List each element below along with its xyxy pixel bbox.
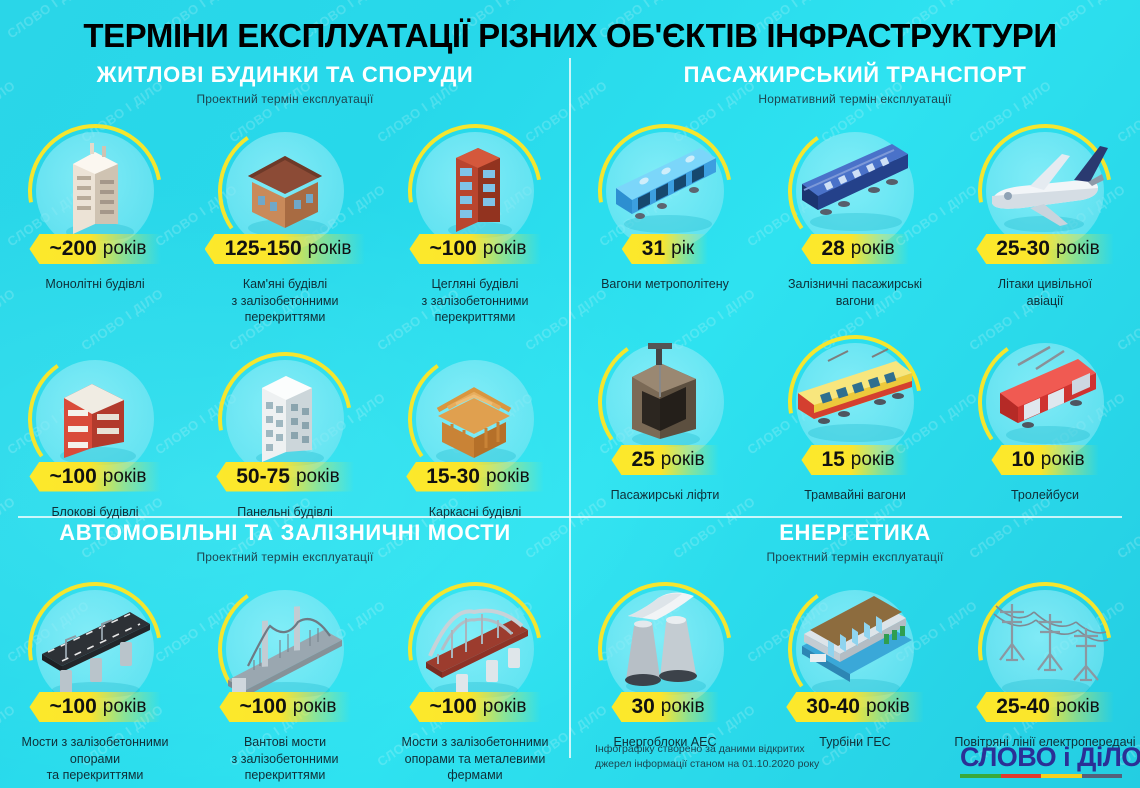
duration-badge: 125-150років <box>205 234 366 264</box>
card-row: 30роківЕнергоблоки АЕС30-40роківТурбіни … <box>570 582 1140 751</box>
card-caption: Пасажирські ліфти <box>611 487 720 504</box>
card-caption: Блокові будівлі <box>51 504 138 521</box>
card-caption: Вагони метрополітену <box>601 276 729 293</box>
info-card: 25роківПасажирські ліфти <box>570 335 760 504</box>
info-card: 30роківЕнергоблоки АЕС <box>570 582 760 751</box>
card-caption: Тролейбуси <box>1011 487 1079 504</box>
duration-unit: років <box>1056 696 1100 718</box>
duration-badge: ~100років <box>409 692 540 722</box>
info-card: 25-30роківЛітаки цивільноїавіації <box>950 124 1140 309</box>
duration-value: 15 <box>821 448 844 472</box>
section-subtitle: Нормативний термін експлуатації <box>570 92 1140 106</box>
info-card: 50-75роківПанельні будівлі <box>190 352 380 521</box>
info-card: 15-30роківКаркасні будівлі <box>380 352 570 521</box>
logo-underline-segment <box>1041 774 1082 778</box>
duration-unit: років <box>308 238 352 260</box>
card-caption: Вантові мостиз залізобетоннимиперекриття… <box>232 734 339 784</box>
duration-unit: років <box>1041 449 1085 471</box>
duration-unit: років <box>851 449 895 471</box>
duration-unit: років <box>851 238 895 260</box>
section-title: ЕНЕРГЕТИКА <box>570 520 1140 546</box>
duration-value: 30 <box>631 695 654 719</box>
info-card: 15роківТрамвайні вагони <box>760 335 950 504</box>
duration-unit: років <box>483 238 527 260</box>
info-card: 125-150роківКам'яні будівліз залізобетон… <box>190 124 380 326</box>
duration-value: 125-150 <box>225 237 302 261</box>
section-subtitle: Проектний термін експлуатації <box>0 550 570 564</box>
card-caption: Мости з залізобетоннимиопорами та метале… <box>402 734 549 784</box>
duration-value: 28 <box>821 237 844 261</box>
info-card: ~100роківЦегляні будівліз залізобетонним… <box>380 124 570 326</box>
duration-badge: 30років <box>611 692 718 722</box>
duration-value: 15-30 <box>426 465 480 489</box>
duration-unit: років <box>486 466 530 488</box>
duration-unit: рік <box>671 238 694 260</box>
duration-unit: років <box>483 696 527 718</box>
info-card: 30-40роківТурбіни ГЕС <box>760 582 950 751</box>
card-row: ~200роківМонолітні будівлі125-150роківКа… <box>0 124 570 326</box>
card-caption: Мости з залізобетоннимиопорамита перекри… <box>22 734 169 784</box>
section-bridges: АВТОМОБІЛЬНІ ТА ЗАЛІЗНИЧНІ МОСТИПроектни… <box>0 520 570 788</box>
section-subtitle: Проектний термін експлуатації <box>570 550 1140 564</box>
duration-value: ~100 <box>49 695 96 719</box>
duration-value: 50-75 <box>236 465 290 489</box>
duration-badge: 25років <box>611 445 718 475</box>
duration-unit: років <box>661 449 705 471</box>
duration-badge: 10років <box>991 445 1098 475</box>
duration-badge: ~100років <box>29 462 160 492</box>
duration-badge: 31рік <box>622 234 708 264</box>
duration-badge: 28років <box>801 234 908 264</box>
duration-badge: 25-30років <box>976 234 1113 264</box>
duration-badge: ~100років <box>219 692 350 722</box>
info-card: ~100роківВантові мостиз залізобетоннимип… <box>190 582 380 784</box>
duration-badge: ~100років <box>29 692 160 722</box>
duration-unit: років <box>103 696 147 718</box>
card-row: 31рікВагони метрополітену28роківЗалізнич… <box>570 124 1140 309</box>
duration-value: 25 <box>631 448 654 472</box>
info-card: 31рікВагони метрополітену <box>570 124 760 309</box>
info-card: ~200роківМонолітні будівлі <box>0 124 190 326</box>
section-transport: ПАСАЖИРСЬКИЙ ТРАНСПОРТНормативний термін… <box>570 62 1140 516</box>
duration-unit: років <box>1056 238 1100 260</box>
duration-value: 31 <box>642 237 665 261</box>
card-caption: Цегляні будівліз залізобетоннимиперекрит… <box>422 276 529 326</box>
infographic-poster: СЛОВО І ДІЛОСЛОВО І ДІЛОСЛОВО І ДІЛОСЛОВ… <box>0 0 1140 788</box>
duration-badge: 50-75років <box>216 462 353 492</box>
card-caption: Панельні будівлі <box>237 504 333 521</box>
info-card: 10роківТролейбуси <box>950 335 1140 504</box>
info-card: ~100роківБлокові будівлі <box>0 352 190 521</box>
card-row: ~100роківБлокові будівлі50-75роківПанель… <box>0 352 570 521</box>
section-subtitle: Проектний термін експлуатації <box>0 92 570 106</box>
logo-underline-segment <box>1082 774 1123 778</box>
source-footnote: Інфографіку створено за даними відкритих… <box>595 742 819 772</box>
card-row: 25роківПасажирські ліфти15роківТрамвайні… <box>570 335 1140 504</box>
card-caption: Монолітні будівлі <box>45 276 144 293</box>
card-row: ~100роківМости з залізобетоннимиопорамит… <box>0 582 570 784</box>
section-housing: ЖИТЛОВІ БУДИНКИ ТА СПОРУДИПроектний терм… <box>0 62 570 516</box>
logo-underline-segment <box>1001 774 1042 778</box>
card-caption: Каркасні будівлі <box>429 504 522 521</box>
duration-unit: років <box>661 696 705 718</box>
logo-underline <box>960 774 1122 778</box>
duration-value: 30-40 <box>806 695 860 719</box>
duration-unit: років <box>296 466 340 488</box>
duration-badge: 25-40років <box>976 692 1113 722</box>
duration-badge: 30-40років <box>786 692 923 722</box>
card-caption: Літаки цивільноїавіації <box>998 276 1092 309</box>
duration-badge: 15-30років <box>406 462 543 492</box>
duration-value: ~100 <box>429 695 476 719</box>
section-title: АВТОМОБІЛЬНІ ТА ЗАЛІЗНИЧНІ МОСТИ <box>0 520 570 546</box>
page-title: ТЕРМІНИ ЕКСПЛУАТАЦІЇ РІЗНИХ ОБ'ЄКТІВ ІНФ… <box>0 17 1140 55</box>
duration-value: ~100 <box>429 237 476 261</box>
section-title: ПАСАЖИРСЬКИЙ ТРАНСПОРТ <box>570 62 1140 88</box>
info-card: 25-40роківПовітряні лінії електропередач… <box>950 582 1140 751</box>
duration-unit: років <box>293 696 337 718</box>
duration-badge: 15років <box>801 445 908 475</box>
brand-logo[interactable]: СЛОВО і ДіЛО <box>960 744 1122 778</box>
duration-value: 25-30 <box>996 237 1050 261</box>
duration-value: ~100 <box>239 695 286 719</box>
card-caption: Залізничні пасажирськівагони <box>788 276 922 309</box>
logo-underline-segment <box>960 774 1001 778</box>
duration-value: 10 <box>1011 448 1034 472</box>
card-caption: Трамвайні вагони <box>804 487 906 504</box>
duration-value: ~200 <box>49 237 96 261</box>
duration-unit: років <box>103 238 147 260</box>
duration-badge: ~100років <box>409 234 540 264</box>
duration-unit: років <box>866 696 910 718</box>
info-card: 28роківЗалізничні пасажирськівагони <box>760 124 950 309</box>
info-card: ~100роківМости з залізобетоннимиопорамит… <box>0 582 190 784</box>
section-title: ЖИТЛОВІ БУДИНКИ ТА СПОРУДИ <box>0 62 570 88</box>
card-caption: Кам'яні будівліз залізобетоннимиперекрит… <box>232 276 339 326</box>
duration-badge: ~200років <box>29 234 160 264</box>
logo-wordmark: СЛОВО і ДіЛО <box>960 744 1122 771</box>
duration-value: 25-40 <box>996 695 1050 719</box>
duration-value: ~100 <box>49 465 96 489</box>
card-caption: Турбіни ГЕС <box>819 734 890 751</box>
duration-unit: років <box>103 466 147 488</box>
info-card: ~100роківМости з залізобетоннимиопорами … <box>380 582 570 784</box>
